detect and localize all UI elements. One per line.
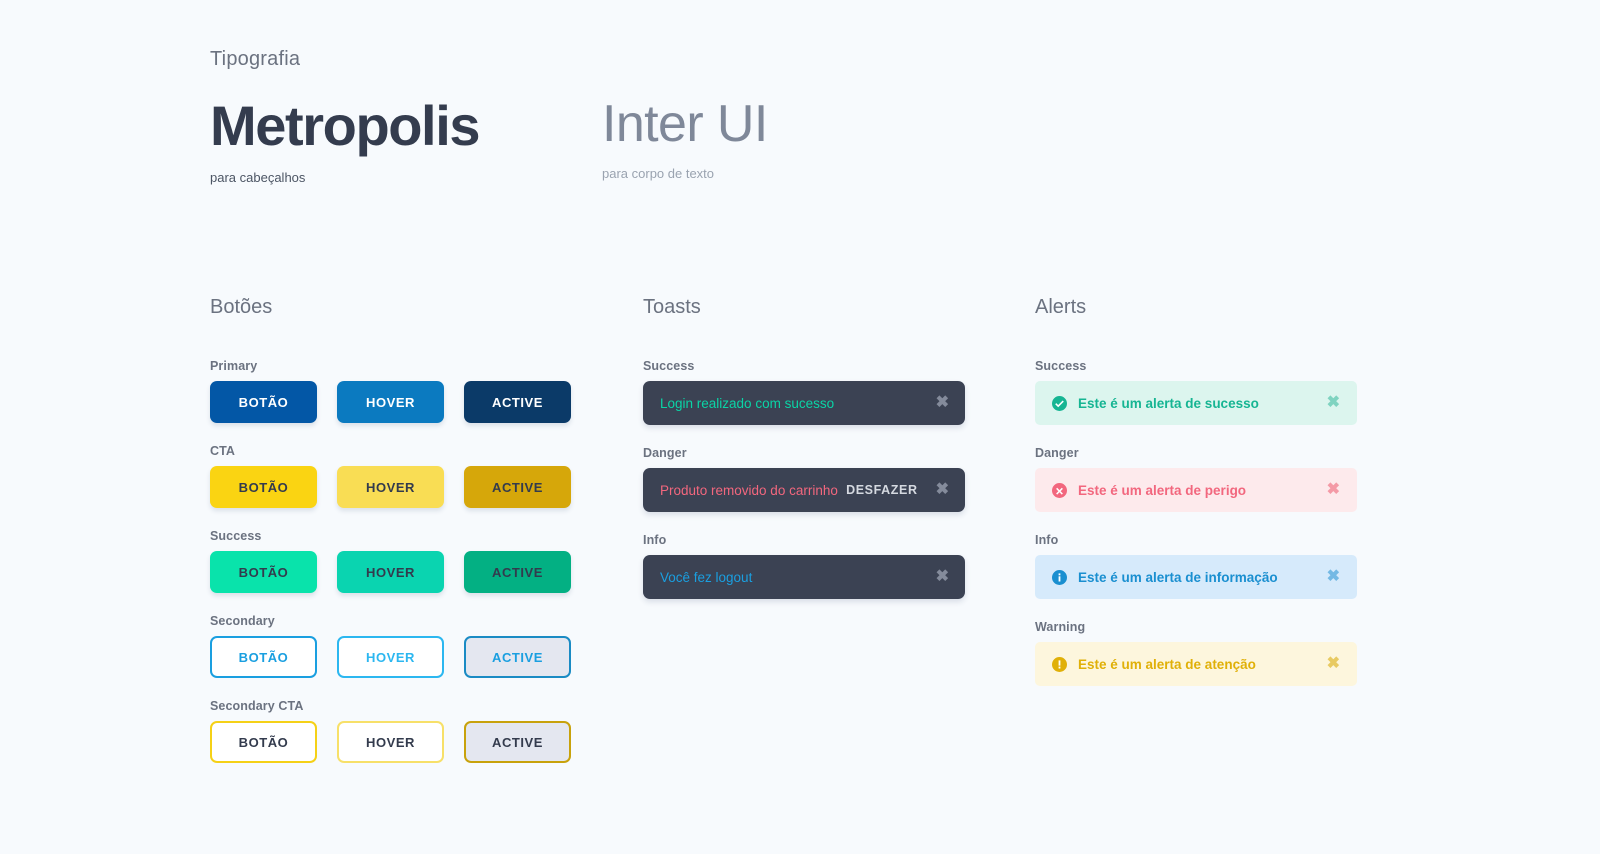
alert-message: Este é um alerta de sucesso bbox=[1078, 396, 1327, 411]
alert-message: Este é um alerta de informação bbox=[1078, 570, 1327, 585]
alert-warning: Este é um alerta de atenção✖ bbox=[1035, 642, 1357, 686]
body-font-caption: para corpo de texto bbox=[602, 166, 768, 181]
button-row: BOTÃOHOVERACTIVE bbox=[210, 636, 643, 678]
close-icon[interactable]: ✖ bbox=[936, 482, 949, 498]
toast-group-label: Danger bbox=[643, 446, 1035, 460]
toast-message: Login realizado com sucesso bbox=[660, 396, 936, 411]
button-row: BOTÃOHOVERACTIVE bbox=[210, 551, 643, 593]
toast-group-label: Info bbox=[643, 533, 1035, 547]
toast-message: Produto removido do carrinho bbox=[660, 483, 846, 498]
button-row: BOTÃOHOVERACTIVE bbox=[210, 381, 643, 423]
buttons-section-title: Botões bbox=[210, 296, 643, 319]
components-columns: Botões PrimaryBOTÃOHOVERACTIVECTABOTÃOHO… bbox=[210, 296, 1570, 784]
type-specimen-list: Metropolis para cabeçalhos Inter UI para… bbox=[210, 97, 1410, 185]
alert-group-danger: DangerEste é um alerta de perigo✖ bbox=[1035, 446, 1357, 512]
alert-success: Este é um alerta de sucesso✖ bbox=[1035, 381, 1357, 425]
button-group-cta: CTABOTÃOHOVERACTIVE bbox=[210, 444, 643, 508]
button-group-secondary-cta: Secondary CTABOTÃOHOVERACTIVE bbox=[210, 699, 643, 763]
alert-message: Este é um alerta de atenção bbox=[1078, 657, 1327, 672]
typography-section: Tipografia Metropolis para cabeçalhos In… bbox=[210, 48, 1410, 185]
toast-list: SuccessLogin realizado com sucesso✖Dange… bbox=[643, 359, 1035, 599]
button-row: BOTÃOHOVERACTIVE bbox=[210, 466, 643, 508]
alert-message: Este é um alerta de perigo bbox=[1078, 483, 1327, 498]
alerts-section-title: Alerts bbox=[1035, 296, 1357, 319]
button-cta-default[interactable]: BOTÃO bbox=[210, 466, 317, 508]
heading-font-caption: para cabeçalhos bbox=[210, 170, 602, 185]
alert-group-warning: WarningEste é um alerta de atenção✖ bbox=[1035, 620, 1357, 686]
button-secondary-hover[interactable]: HOVER bbox=[337, 636, 444, 678]
buttons-section: Botões PrimaryBOTÃOHOVERACTIVECTABOTÃOHO… bbox=[210, 296, 643, 784]
alerts-section: Alerts SuccessEste é um alerta de sucess… bbox=[1035, 296, 1357, 784]
info-circle-icon bbox=[1052, 570, 1067, 585]
type-specimen-headings: Metropolis para cabeçalhos bbox=[210, 97, 602, 185]
alert-danger: Este é um alerta de perigo✖ bbox=[1035, 468, 1357, 512]
alert-group-label: Warning bbox=[1035, 620, 1357, 634]
exclamation-circle-icon bbox=[1052, 657, 1067, 672]
button-group-label: Primary bbox=[210, 359, 643, 373]
button-primary-default[interactable]: BOTÃO bbox=[210, 381, 317, 423]
toast-message: Você fez logout bbox=[660, 570, 936, 585]
alert-group-success: SuccessEste é um alerta de sucesso✖ bbox=[1035, 359, 1357, 425]
toast-info: Você fez logout✖ bbox=[643, 555, 965, 599]
body-font-name: Inter UI bbox=[602, 97, 768, 152]
typography-heading: Tipografia bbox=[210, 48, 1410, 71]
close-icon[interactable]: ✖ bbox=[936, 395, 949, 411]
button-group-label: Secondary bbox=[210, 614, 643, 628]
button-secondary-cta-active[interactable]: ACTIVE bbox=[464, 721, 571, 763]
button-group-label: Secondary CTA bbox=[210, 699, 643, 713]
heading-font-name: Metropolis bbox=[210, 97, 602, 156]
button-group-success: SuccessBOTÃOHOVERACTIVE bbox=[210, 529, 643, 593]
button-row: BOTÃOHOVERACTIVE bbox=[210, 721, 643, 763]
check-circle-icon bbox=[1052, 396, 1067, 411]
alert-group-label: Info bbox=[1035, 533, 1357, 547]
toast-action-button[interactable]: DESFAZER bbox=[846, 483, 917, 497]
toasts-section: Toasts SuccessLogin realizado com sucess… bbox=[643, 296, 1035, 784]
button-group-label: Success bbox=[210, 529, 643, 543]
button-group-list: PrimaryBOTÃOHOVERACTIVECTABOTÃOHOVERACTI… bbox=[210, 359, 643, 763]
button-success-active[interactable]: ACTIVE bbox=[464, 551, 571, 593]
close-icon[interactable]: ✖ bbox=[1327, 569, 1340, 585]
alert-list: SuccessEste é um alerta de sucesso✖Dange… bbox=[1035, 359, 1357, 686]
alert-group-label: Danger bbox=[1035, 446, 1357, 460]
toast-group-danger: DangerProduto removido do carrinhoDESFAZ… bbox=[643, 446, 1035, 512]
alert-group-label: Success bbox=[1035, 359, 1357, 373]
button-cta-hover[interactable]: HOVER bbox=[337, 466, 444, 508]
toast-group-success: SuccessLogin realizado com sucesso✖ bbox=[643, 359, 1035, 425]
toasts-section-title: Toasts bbox=[643, 296, 1035, 319]
close-icon[interactable]: ✖ bbox=[936, 569, 949, 585]
toast-danger: Produto removido do carrinhoDESFAZER✖ bbox=[643, 468, 965, 512]
button-group-primary: PrimaryBOTÃOHOVERACTIVE bbox=[210, 359, 643, 423]
toast-success: Login realizado com sucesso✖ bbox=[643, 381, 965, 425]
button-secondary-active[interactable]: ACTIVE bbox=[464, 636, 571, 678]
button-secondary-default[interactable]: BOTÃO bbox=[210, 636, 317, 678]
button-success-default[interactable]: BOTÃO bbox=[210, 551, 317, 593]
alert-group-info: InfoEste é um alerta de informação✖ bbox=[1035, 533, 1357, 599]
button-success-hover[interactable]: HOVER bbox=[337, 551, 444, 593]
button-primary-hover[interactable]: HOVER bbox=[337, 381, 444, 423]
toast-group-info: InfoVocê fez logout✖ bbox=[643, 533, 1035, 599]
button-group-secondary: SecondaryBOTÃOHOVERACTIVE bbox=[210, 614, 643, 678]
close-icon[interactable]: ✖ bbox=[1327, 395, 1340, 411]
close-icon[interactable]: ✖ bbox=[1327, 482, 1340, 498]
alert-info: Este é um alerta de informação✖ bbox=[1035, 555, 1357, 599]
type-specimen-body: Inter UI para corpo de texto bbox=[602, 97, 768, 185]
button-secondary-cta-default[interactable]: BOTÃO bbox=[210, 721, 317, 763]
close-icon[interactable]: ✖ bbox=[1327, 656, 1340, 672]
button-group-label: CTA bbox=[210, 444, 643, 458]
times-circle-icon bbox=[1052, 483, 1067, 498]
button-primary-active[interactable]: ACTIVE bbox=[464, 381, 571, 423]
button-secondary-cta-hover[interactable]: HOVER bbox=[337, 721, 444, 763]
toast-group-label: Success bbox=[643, 359, 1035, 373]
button-cta-active[interactable]: ACTIVE bbox=[464, 466, 571, 508]
